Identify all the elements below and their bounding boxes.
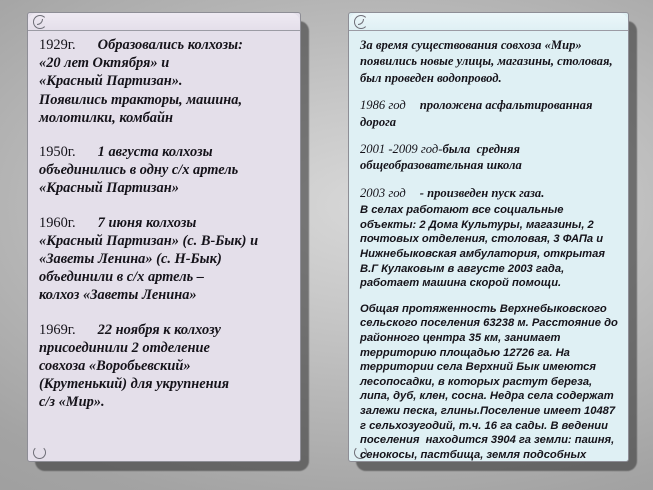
right-panel-body: За время существования совхоза «Мир» поя… xyxy=(348,12,629,462)
timeline-entry-year: 1929г. xyxy=(39,37,76,53)
info-block: 1986 годпроложена асфальтированная дорог… xyxy=(360,97,618,130)
info-block-text: - произведен пуск газа. xyxy=(420,186,545,200)
info-block-year: 2001 -2009 год- xyxy=(360,142,442,156)
left-scroll-panel: 1929г.Образовались колхозы: «20 лет Октя… xyxy=(27,12,301,462)
timeline-entry-year: 1960г. xyxy=(39,215,76,231)
info-block: Общая протяженность Верхнебыковского сел… xyxy=(360,302,618,462)
info-block: 2003 год- произведен пуск газа. xyxy=(360,185,618,201)
right-panel-scroll-top xyxy=(349,13,628,31)
left-panel-body: 1929г.Образовались колхозы: «20 лет Октя… xyxy=(27,12,301,462)
slide-canvas: 1929г.Образовались колхозы: «20 лет Октя… xyxy=(0,0,653,490)
info-block-text: Общая протяженность Верхнебыковского сел… xyxy=(360,303,621,462)
info-block-text: В селах работают все социальные объекты:… xyxy=(360,204,608,289)
scroll-curl-icon xyxy=(354,15,368,29)
info-block-text: За время существования совхоза «Мир» поя… xyxy=(360,38,616,85)
left-panel-content: 1929г.Образовались колхозы: «20 лет Октя… xyxy=(28,31,300,461)
timeline-entry: 1929г.Образовались колхозы: «20 лет Октя… xyxy=(39,36,290,127)
timeline-entry: 1969г.22 ноября к колхозу присоединили 2… xyxy=(39,321,290,412)
timeline-entry-year: 1969г. xyxy=(39,322,76,338)
scroll-curl-icon xyxy=(33,15,47,29)
timeline-entry: 1960г.7 июня колхозы «Красный Партизан» … xyxy=(39,214,290,305)
info-block: В селах работают все социальные объекты:… xyxy=(360,203,618,291)
info-block: За время существования совхоза «Мир» поя… xyxy=(360,37,618,86)
timeline-entry: 1950г.1 августа колхозы объединились в о… xyxy=(39,143,290,198)
info-block: 2001 -2009 год-была средняя общеобразова… xyxy=(360,141,618,174)
info-block-year: 2003 год xyxy=(360,186,406,200)
timeline-entry-year: 1950г. xyxy=(39,144,76,160)
left-panel-scroll-top xyxy=(28,13,300,31)
info-block-year: 1986 год xyxy=(360,98,406,112)
right-scroll-panel: За время существования совхоза «Мир» поя… xyxy=(348,12,629,462)
right-panel-content: За время существования совхоза «Мир» поя… xyxy=(349,31,628,461)
